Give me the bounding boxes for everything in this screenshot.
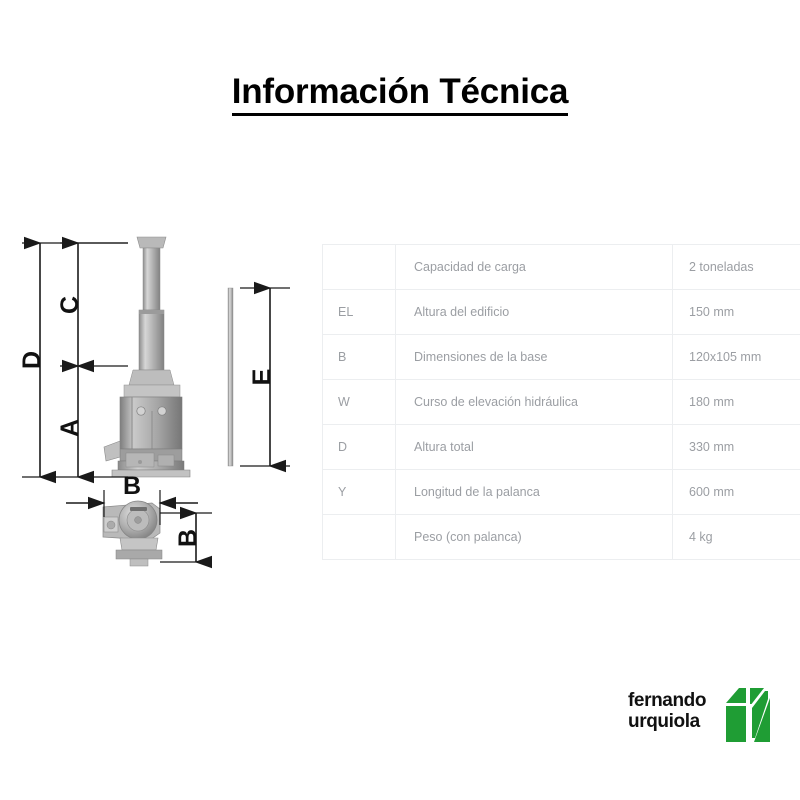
brand-name-line2: urquiola xyxy=(628,711,724,732)
row-code: EL xyxy=(323,290,396,335)
row-label: Altura total xyxy=(396,425,673,470)
page-title: Información Técnica xyxy=(0,72,800,112)
dimension-label-b-vertical: B xyxy=(174,529,202,547)
row-label: Curso de elevación hidráulica xyxy=(396,380,673,425)
row-value: 600 mm xyxy=(673,470,800,515)
dimension-label-b-horizontal: B xyxy=(123,472,141,500)
row-label: Longitud de la palanca xyxy=(396,470,673,515)
table-row: D Altura total 330 mm xyxy=(323,425,800,470)
lever-illustration xyxy=(228,288,233,466)
table-row: Peso (con palanca) 4 kg xyxy=(323,515,800,560)
jack-side-view-illustration xyxy=(104,237,190,477)
brand-mark-icon xyxy=(714,686,774,749)
row-code: Y xyxy=(323,470,396,515)
dimension-label-a: A xyxy=(56,419,84,437)
row-value: 120x105 mm xyxy=(673,335,800,380)
dimension-label-d: D xyxy=(18,351,46,369)
technical-drawing: D C A E xyxy=(0,225,310,585)
table-row: B Dimensiones de la base 120x105 mm xyxy=(323,335,800,380)
brand-logo: fernando urquiola xyxy=(628,686,778,748)
row-code: D xyxy=(323,425,396,470)
row-code: B xyxy=(323,335,396,380)
row-value: 180 mm xyxy=(673,380,800,425)
row-label: Peso (con palanca) xyxy=(396,515,673,560)
specifications-table: Capacidad de carga 2 toneladas EL Altura… xyxy=(322,244,800,560)
table-row: Capacidad de carga 2 toneladas xyxy=(323,245,800,290)
row-label: Dimensiones de la base xyxy=(396,335,673,380)
row-value: 150 mm xyxy=(673,290,800,335)
row-code xyxy=(323,245,396,290)
brand-logo-text: fernando urquiola xyxy=(628,690,724,732)
row-code xyxy=(323,515,396,560)
row-label: Capacidad de carga xyxy=(396,245,673,290)
table-row: Y Longitud de la palanca 600 mm xyxy=(323,470,800,515)
row-label: Altura del edificio xyxy=(396,290,673,335)
dimension-label-e: E xyxy=(248,369,276,386)
brand-name-line1: fernando xyxy=(628,690,724,711)
row-value: 4 kg xyxy=(673,515,800,560)
table-row: EL Altura del edificio 150 mm xyxy=(323,290,800,335)
table-row: W Curso de elevación hidráulica 180 mm xyxy=(323,380,800,425)
specifications-table-body: Capacidad de carga 2 toneladas EL Altura… xyxy=(323,245,800,560)
dimension-label-c: C xyxy=(56,296,84,314)
row-code: W xyxy=(323,380,396,425)
row-value: 330 mm xyxy=(673,425,800,470)
jack-bottom-view-illustration xyxy=(103,501,162,566)
row-value: 2 toneladas xyxy=(673,245,800,290)
page-title-text: Información Técnica xyxy=(232,72,569,116)
